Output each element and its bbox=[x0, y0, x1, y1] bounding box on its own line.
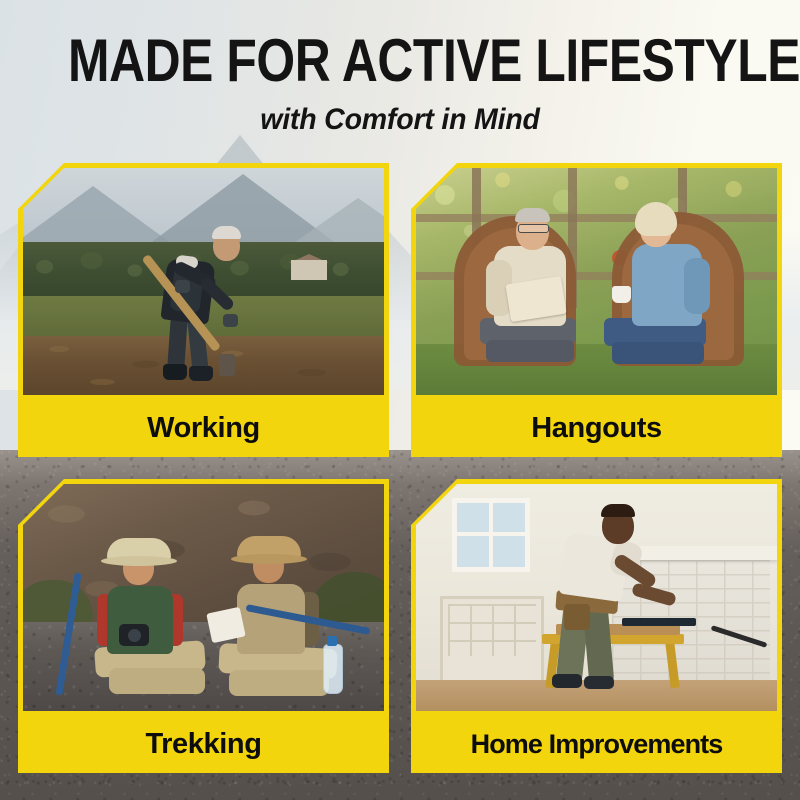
eyeglasses bbox=[518, 224, 549, 233]
card-label-bar-trekking: Trekking bbox=[18, 716, 389, 773]
scene-hangouts bbox=[416, 168, 777, 395]
man-hair bbox=[515, 208, 550, 222]
water-bottle-cap bbox=[327, 636, 337, 646]
tool-pouch bbox=[564, 604, 590, 630]
heading-block: MADE FOR ACTIVE LIFESTYLE with Comfort i… bbox=[0, 0, 800, 137]
scene-trekking bbox=[23, 484, 384, 711]
spirit-level bbox=[622, 618, 696, 626]
cabinet-glass-panes bbox=[448, 604, 536, 656]
woman-sleeve bbox=[684, 258, 710, 314]
poster-canvas: MADE FOR ACTIVE LIFESTYLE with Comfort i… bbox=[0, 0, 800, 800]
card-photo-trekking bbox=[23, 484, 384, 711]
lifestyle-card-trekking[interactable]: Trekking bbox=[18, 479, 389, 773]
poster-title: MADE FOR ACTIVE LIFESTYLE bbox=[68, 0, 732, 91]
worker-boot-right bbox=[189, 366, 213, 381]
lifestyle-card-home-improvements[interactable]: Home Improvements bbox=[411, 479, 782, 773]
scene-working bbox=[23, 168, 384, 395]
card-label-bar-working: Working bbox=[18, 400, 389, 457]
card-photo-home-improvements bbox=[416, 484, 777, 711]
hiker-b-hat-brim bbox=[231, 554, 307, 564]
hiker-a-hat-brim bbox=[101, 556, 177, 566]
card-label-text-trekking: Trekking bbox=[145, 728, 261, 761]
card-photo-hangouts bbox=[416, 168, 777, 395]
coffee-mug bbox=[612, 286, 631, 303]
man-trousers-lower bbox=[486, 340, 574, 362]
garden-hoe-blade bbox=[219, 354, 235, 376]
poster-subtitle: with Comfort in Mind bbox=[20, 91, 780, 137]
worker-glove-upper bbox=[175, 280, 190, 293]
card-photo-working bbox=[23, 168, 384, 395]
worker-boot-left bbox=[163, 364, 187, 380]
worker-hair bbox=[212, 226, 241, 239]
trellis-rail-upper bbox=[416, 214, 777, 222]
window-mullion-horizontal bbox=[452, 532, 530, 536]
card-label-bar-hangouts: Hangouts bbox=[411, 400, 782, 457]
card-label-text-working: Working bbox=[147, 412, 260, 445]
lifestyle-card-working[interactable]: Working bbox=[18, 163, 389, 457]
farmhouse bbox=[291, 260, 327, 280]
camera-lens bbox=[128, 629, 141, 642]
card-label-text-hangouts: Hangouts bbox=[531, 412, 662, 445]
woman-hair bbox=[635, 202, 677, 236]
worker-shoe-front bbox=[552, 674, 582, 688]
card-label-bar-home-improvements: Home Improvements bbox=[411, 716, 782, 773]
lifestyle-card-hangouts[interactable]: Hangouts bbox=[411, 163, 782, 457]
card-label-text-home-improvements: Home Improvements bbox=[471, 729, 723, 760]
hiker-a-leg-lower bbox=[109, 668, 205, 694]
worker-glove-lower bbox=[223, 314, 238, 327]
lifestyle-card-grid: Working bbox=[18, 163, 782, 773]
woman-jeans-lower bbox=[612, 342, 704, 364]
water-bottle bbox=[323, 644, 343, 694]
worker-hair bbox=[601, 504, 635, 517]
scene-home-improvements bbox=[416, 484, 777, 711]
worker-shoe-back bbox=[584, 676, 614, 689]
hiker-b-leg-lower bbox=[229, 670, 329, 696]
